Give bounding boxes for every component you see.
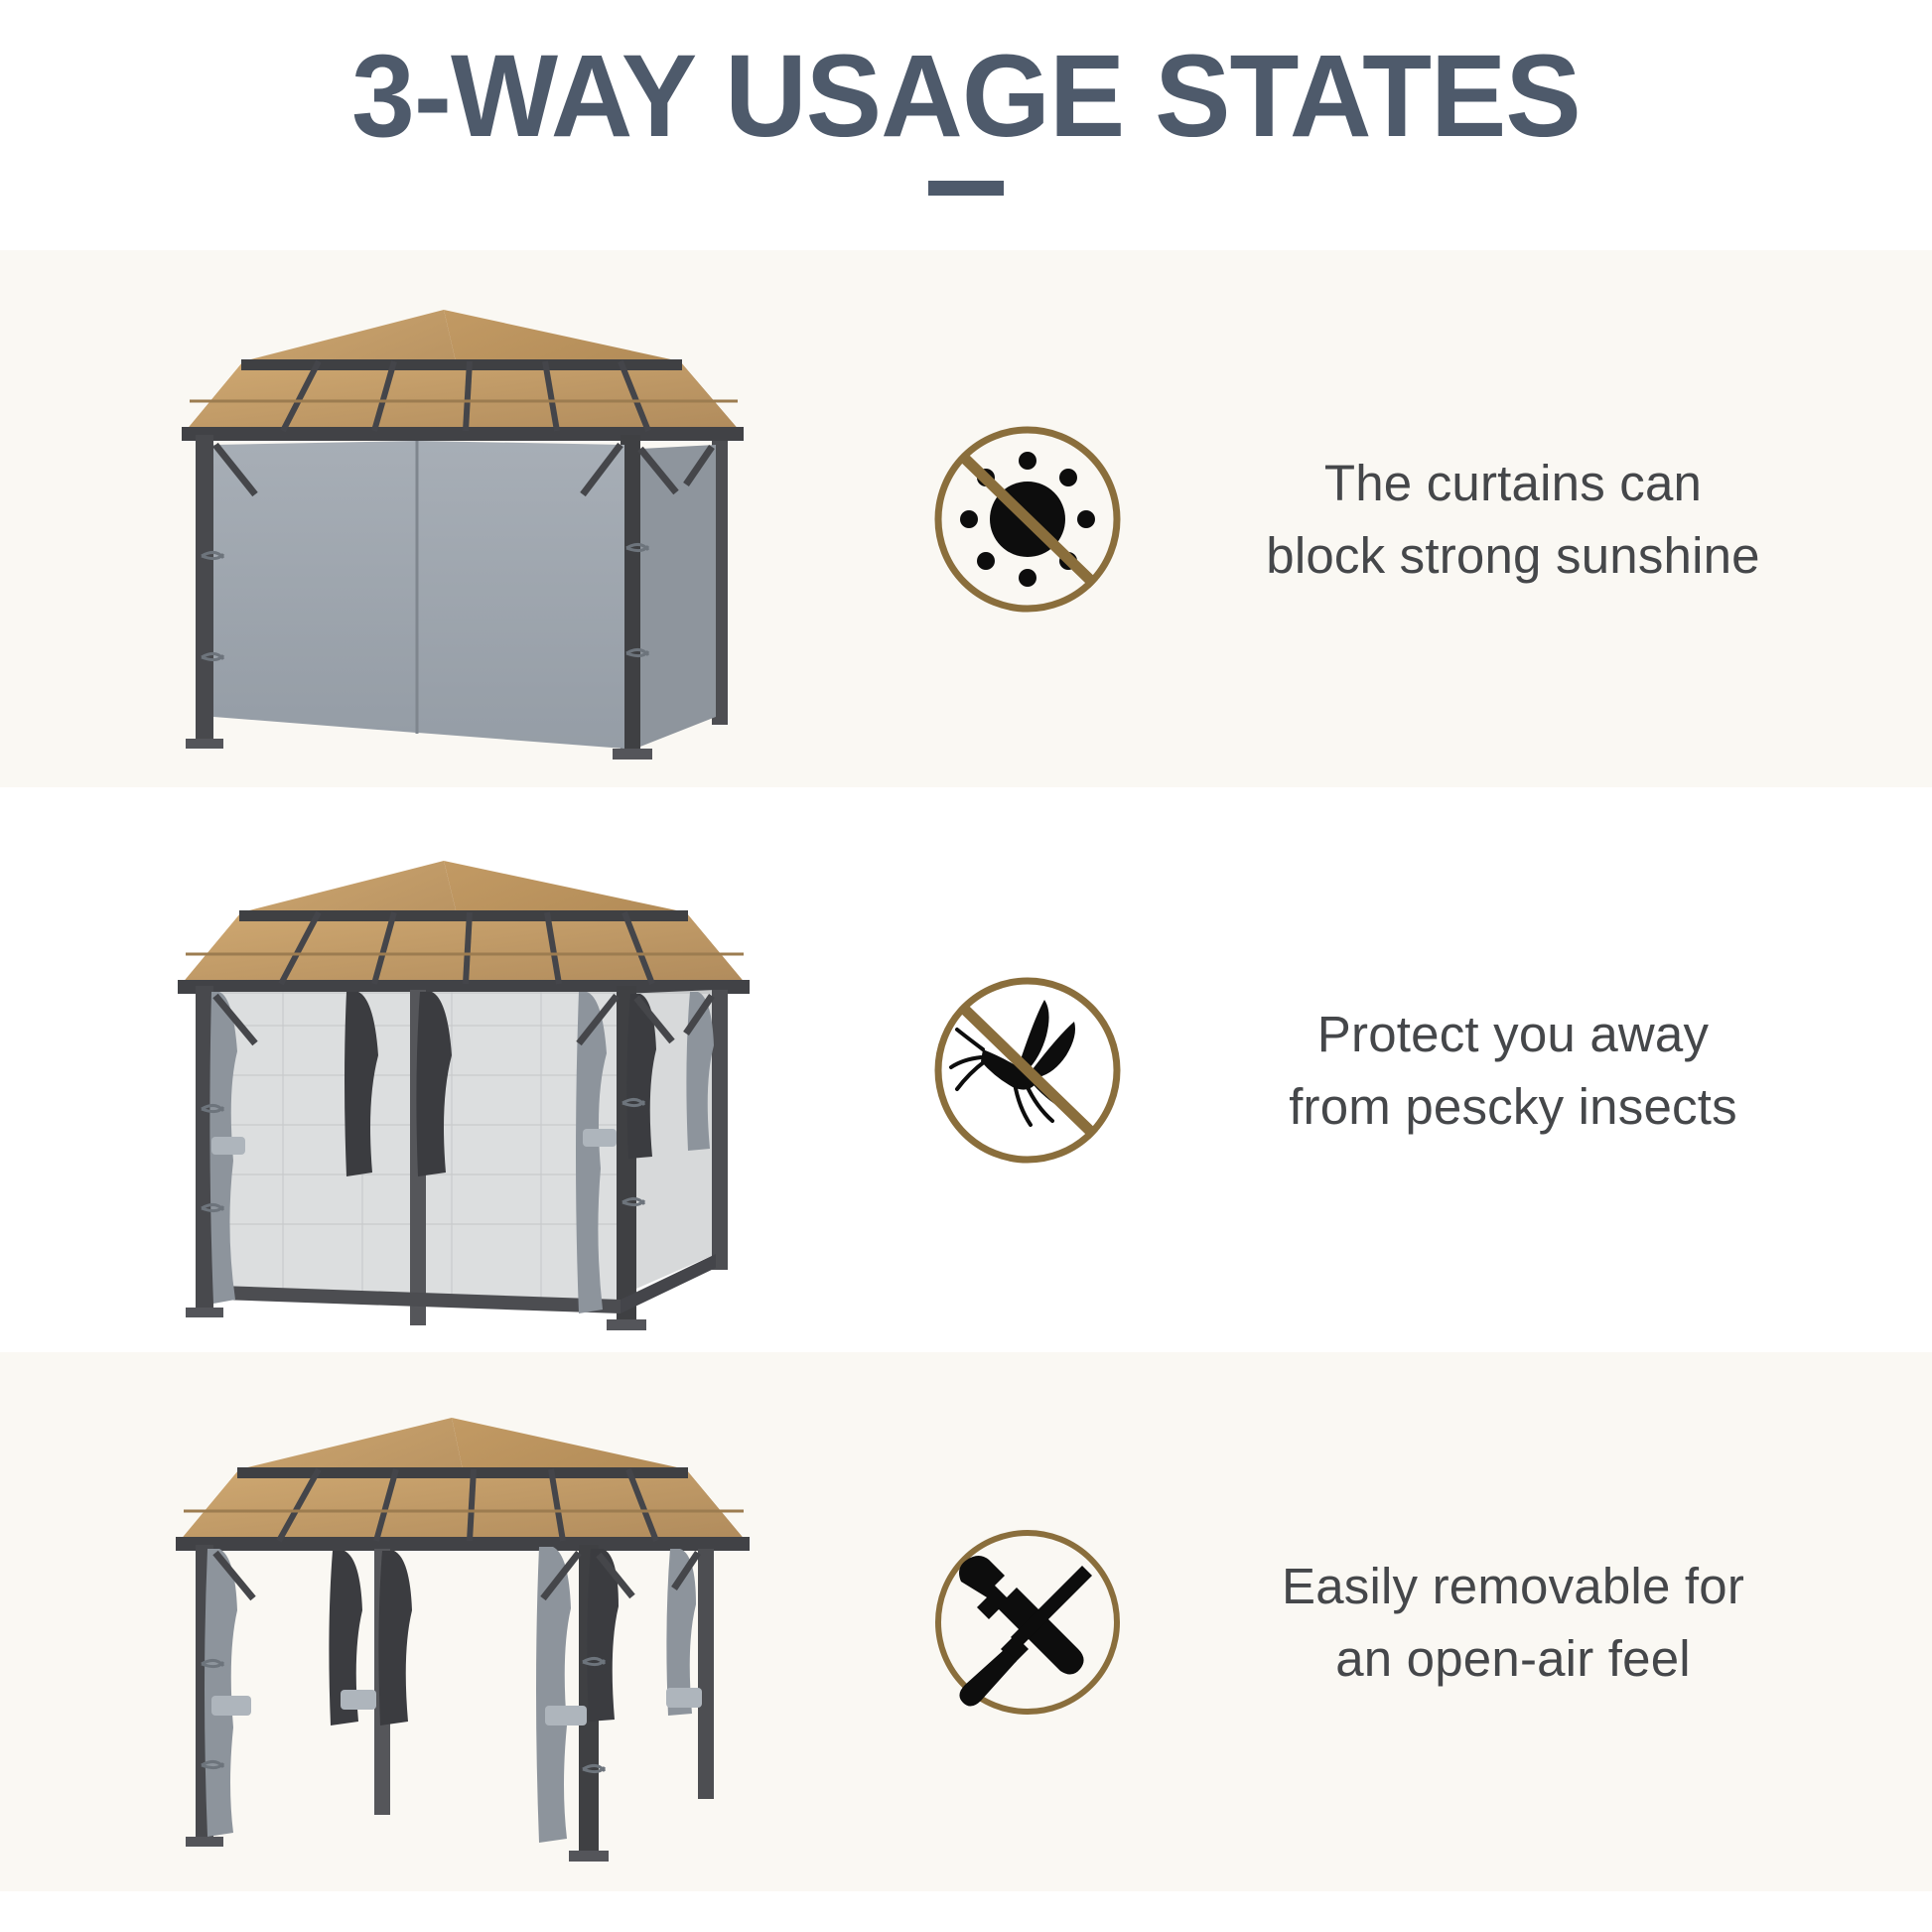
feature-row-curtains: The curtains can block strong sunshine xyxy=(0,250,1932,787)
header: 3-WAY USAGE STATES xyxy=(0,0,1932,250)
feature-row-insects: Protect you away from pescky insects xyxy=(0,787,1932,1352)
feature-line-2: from pescky insects xyxy=(1166,1070,1861,1143)
feature-line-1: Protect you away xyxy=(1166,998,1861,1070)
feature-insects: Protect you away from pescky insects xyxy=(894,787,1886,1352)
feature-removable: Easily removable for an open-air feel xyxy=(894,1352,1886,1891)
feature-text-curtains: The curtains can block strong sunshine xyxy=(1132,447,1886,592)
feature-row-removable: Easily removable for an open-air feel xyxy=(0,1352,1932,1891)
footer-spacer xyxy=(0,1891,1932,1932)
page-title: 3-WAY USAGE STATES xyxy=(29,38,1903,155)
wrench-shape xyxy=(959,1556,1084,1675)
title-accent-bar xyxy=(928,181,1004,196)
feature-line-2: an open-air feel xyxy=(1166,1622,1861,1695)
gazebo-closed-curtains xyxy=(124,250,759,787)
feature-line-1: The curtains can xyxy=(1166,447,1861,519)
feature-text-removable: Easily removable for an open-air feel xyxy=(1132,1550,1886,1695)
feature-line-2: block strong sunshine xyxy=(1166,519,1861,592)
no-sun-icon xyxy=(923,415,1132,623)
no-mosquito-icon xyxy=(923,966,1132,1174)
gazebo-open-air xyxy=(124,1352,759,1891)
feature-text-insects: Protect you away from pescky insects xyxy=(1132,998,1886,1143)
tools-icon xyxy=(923,1518,1132,1726)
feature-line-1: Easily removable for xyxy=(1166,1550,1861,1622)
gazebo-mosquito-netting xyxy=(124,787,759,1352)
feature-curtains: The curtains can block strong sunshine xyxy=(894,250,1886,787)
